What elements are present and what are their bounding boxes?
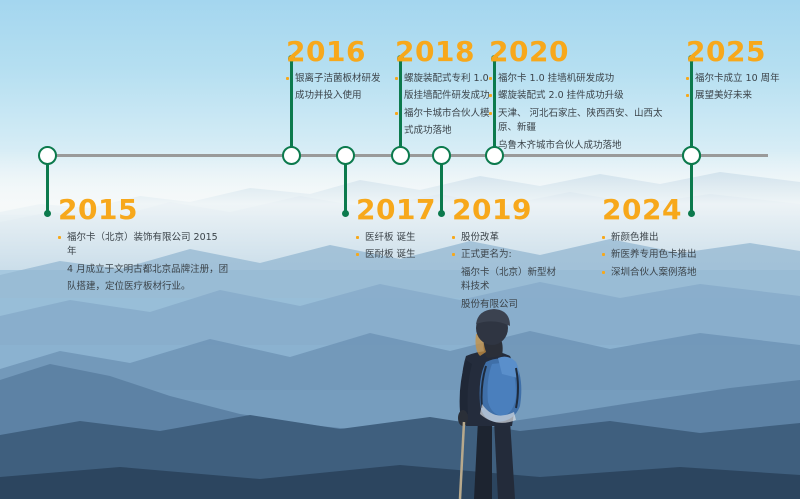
year-label-2020: 2020 (489, 38, 669, 66)
timeline-entry-2019[interactable]: 2019 股份改革 正式更名为: 福尔卡（北京）新型材料技术 股份有限公司 (452, 196, 558, 315)
entry-items-2019: 股份改革 正式更名为: 福尔卡（北京）新型材料技术 股份有限公司 (452, 231, 558, 312)
timeline-entry-2018[interactable]: 2018 螺旋装配式专利 1.0 版挂墙配件研发成功 福尔卡城市合伙人模 式成功… (395, 38, 495, 142)
list-item: 福尔卡（北京）装饰有限公司 2015 年 (58, 231, 230, 260)
entry-items-2017: 医纤板 诞生 医耐板 诞生 (356, 231, 436, 263)
timeline-node-2019[interactable] (432, 146, 451, 165)
timeline-entry-2016[interactable]: 2016 银离子洁菌板材研发 成功并投入使用 (286, 38, 386, 107)
entry-items-2024: 新颜色推出 新医养专用色卡推出 深圳合伙人案例落地 (602, 231, 732, 280)
year-label-2018: 2018 (395, 38, 495, 66)
entry-items-2015: 福尔卡（北京）装饰有限公司 2015 年 4 月成立于文明古都北京品牌注册，团 … (58, 231, 230, 295)
list-item: 福尔卡成立 10 周年 (686, 72, 796, 86)
list-item: 医纤板 诞生 (356, 231, 436, 245)
list-item: 队搭建，定位医疗板材行业。 (58, 280, 230, 294)
list-item: 螺旋装配式 2.0 挂件成功升级 (489, 89, 669, 103)
list-item: 福尔卡 1.0 挂墙机研发成功 (489, 72, 669, 86)
timeline-entry-2020[interactable]: 2020 福尔卡 1.0 挂墙机研发成功 螺旋装配式 2.0 挂件成功升级 天津… (489, 38, 669, 156)
timeline-node-2018[interactable] (391, 146, 410, 165)
entry-items-2016: 银离子洁菌板材研发 成功并投入使用 (286, 72, 386, 104)
timeline-infographic: 2016 银离子洁菌板材研发 成功并投入使用 2018 螺旋装配式专利 1.0 … (0, 0, 800, 499)
list-item: 深圳合伙人案例落地 (602, 266, 732, 280)
list-item: 螺旋装配式专利 1.0 (395, 72, 495, 86)
entry-items-2020: 福尔卡 1.0 挂墙机研发成功 螺旋装配式 2.0 挂件成功升级 天津、 河北石… (489, 72, 669, 153)
year-label-2024: 2024 (602, 196, 732, 224)
mountain-ridge-darkest (0, 455, 800, 499)
list-item: 成功并投入使用 (286, 89, 386, 103)
list-item: 正式更名为: (452, 248, 558, 262)
entry-items-2018: 螺旋装配式专利 1.0 版挂墙配件研发成功 福尔卡城市合伙人模 式成功落地 (395, 72, 495, 139)
entry-items-2025: 福尔卡成立 10 周年 展望美好未来 (686, 72, 796, 104)
timeline-node-2016[interactable] (282, 146, 301, 165)
list-item: 乌鲁木齐城市合伙人成功落地 (489, 139, 669, 153)
list-item: 新医养专用色卡推出 (602, 248, 732, 262)
list-item: 版挂墙配件研发成功 (395, 89, 495, 103)
year-label-2025: 2025 (686, 38, 796, 66)
list-item: 银离子洁菌板材研发 (286, 72, 386, 86)
timeline-entry-2017[interactable]: 2017 医纤板 诞生 医耐板 诞生 (356, 196, 436, 266)
list-item: 展望美好未来 (686, 89, 796, 103)
year-label-2016: 2016 (286, 38, 386, 66)
list-item: 式成功落地 (395, 124, 495, 138)
list-item: 4 月成立于文明古都北京品牌注册，团 (58, 263, 230, 277)
connector-tip-2017 (342, 210, 349, 217)
timeline-entry-2015[interactable]: 2015 福尔卡（北京）装饰有限公司 2015 年 4 月成立于文明古都北京品牌… (58, 196, 230, 298)
connector-tip-2019 (438, 210, 445, 217)
year-label-2017: 2017 (356, 196, 436, 224)
timeline-entry-2025[interactable]: 2025 福尔卡成立 10 周年 展望美好未来 (686, 38, 796, 107)
connector-tip-2015 (44, 210, 51, 217)
list-item: 天津、 河北石家庄、陕西西安、山西太原、新疆 (489, 107, 669, 136)
year-label-2019: 2019 (452, 196, 558, 224)
list-item: 股份有限公司 (452, 298, 558, 312)
list-item: 医耐板 诞生 (356, 248, 436, 262)
list-item: 新颜色推出 (602, 231, 732, 245)
hiker-figure (420, 300, 570, 499)
year-label-2015: 2015 (58, 196, 230, 224)
timeline-entry-2024[interactable]: 2024 新颜色推出 新医养专用色卡推出 深圳合伙人案例落地 (602, 196, 732, 283)
timeline-node-2017[interactable] (336, 146, 355, 165)
list-item: 福尔卡城市合伙人模 (395, 107, 495, 121)
timeline-node-2025[interactable] (682, 146, 701, 165)
timeline-node-2015[interactable] (38, 146, 57, 165)
list-item: 股份改革 (452, 231, 558, 245)
list-item: 福尔卡（北京）新型材料技术 (452, 266, 558, 295)
